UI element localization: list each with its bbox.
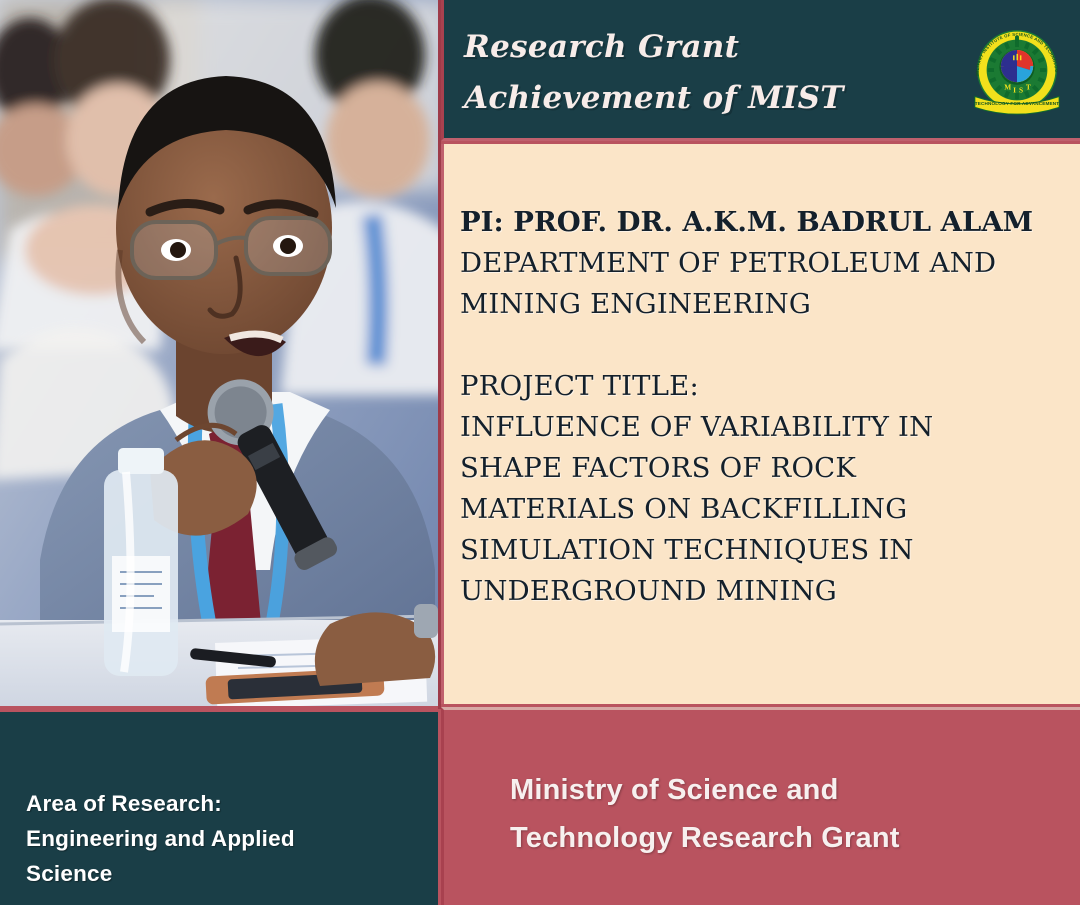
svg-text:M: M: [1004, 83, 1011, 92]
poster-title: Research Grant Achievement of MIST: [464, 22, 884, 124]
area-of-research-label: Area of Research:: [26, 786, 416, 821]
ministry-line-1: Ministry of Science and: [510, 766, 1070, 814]
area-of-research-value-line-2: Science: [26, 856, 416, 891]
area-of-research-block: Area of Research: Engineering and Applie…: [0, 709, 438, 905]
project-title-line-3: MATERIALS ON BACKFILLING: [460, 489, 1060, 530]
project-title-line-1: INFLUENCE OF VARIABILITY IN: [460, 407, 1060, 448]
ministry-grant-text: Ministry of Science and Technology Resea…: [510, 766, 1070, 862]
svg-text:T: T: [1026, 83, 1031, 92]
mist-logo: MILITARY INSTITUTE OF SCIENCE AND TECHNO…: [968, 22, 1066, 122]
ministry-grant-block: Ministry of Science and Technology Resea…: [441, 707, 1080, 905]
poster-title-line1: Research Grant: [464, 22, 884, 73]
project-details-panel: PI: PROF. DR. A.K.M. BADRUL ALAM DEPARTM…: [441, 144, 1080, 704]
mist-logo-svg: MILITARY INSTITUTE OF SCIENCE AND TECHNO…: [968, 22, 1066, 122]
project-title-line-2: SHAPE FACTORS OF ROCK: [460, 448, 1060, 489]
principal-investigator-photo: [0, 0, 438, 706]
project-details-text: PI: PROF. DR. A.K.M. BADRUL ALAM DEPARTM…: [460, 202, 1060, 612]
project-title-line-4: SIMULATION TECHNIQUES IN: [460, 530, 1060, 571]
department-line-2: MINING ENGINEERING: [460, 284, 1060, 325]
svg-text:S: S: [1019, 86, 1023, 95]
project-title-line-5: UNDERGROUND MINING: [460, 571, 1060, 612]
department-line-1: DEPARTMENT OF PETROLEUM AND: [460, 243, 1060, 284]
svg-text:I: I: [1013, 86, 1016, 95]
photo-illustration: [0, 0, 438, 706]
area-of-research-text: Area of Research: Engineering and Applie…: [26, 786, 416, 891]
ministry-line-2: Technology Research Grant: [510, 814, 1070, 862]
project-title-label: PROJECT TITLE:: [460, 366, 1060, 407]
poster-header: Research Grant Achievement of MIST MILIT…: [441, 0, 1080, 141]
poster-title-line2: Achievement of MIST: [464, 73, 884, 124]
mist-logo-ribbon-text: TECHNOLOGY FOR ADVANCEMENT: [975, 101, 1059, 106]
pi-name: PI: PROF. DR. A.K.M. BADRUL ALAM: [460, 202, 1060, 243]
poster-canvas: Research Grant Achievement of MIST MILIT…: [0, 0, 1080, 905]
area-of-research-value-line-1: Engineering and Applied: [26, 821, 416, 856]
details-spacer: [460, 325, 1060, 366]
